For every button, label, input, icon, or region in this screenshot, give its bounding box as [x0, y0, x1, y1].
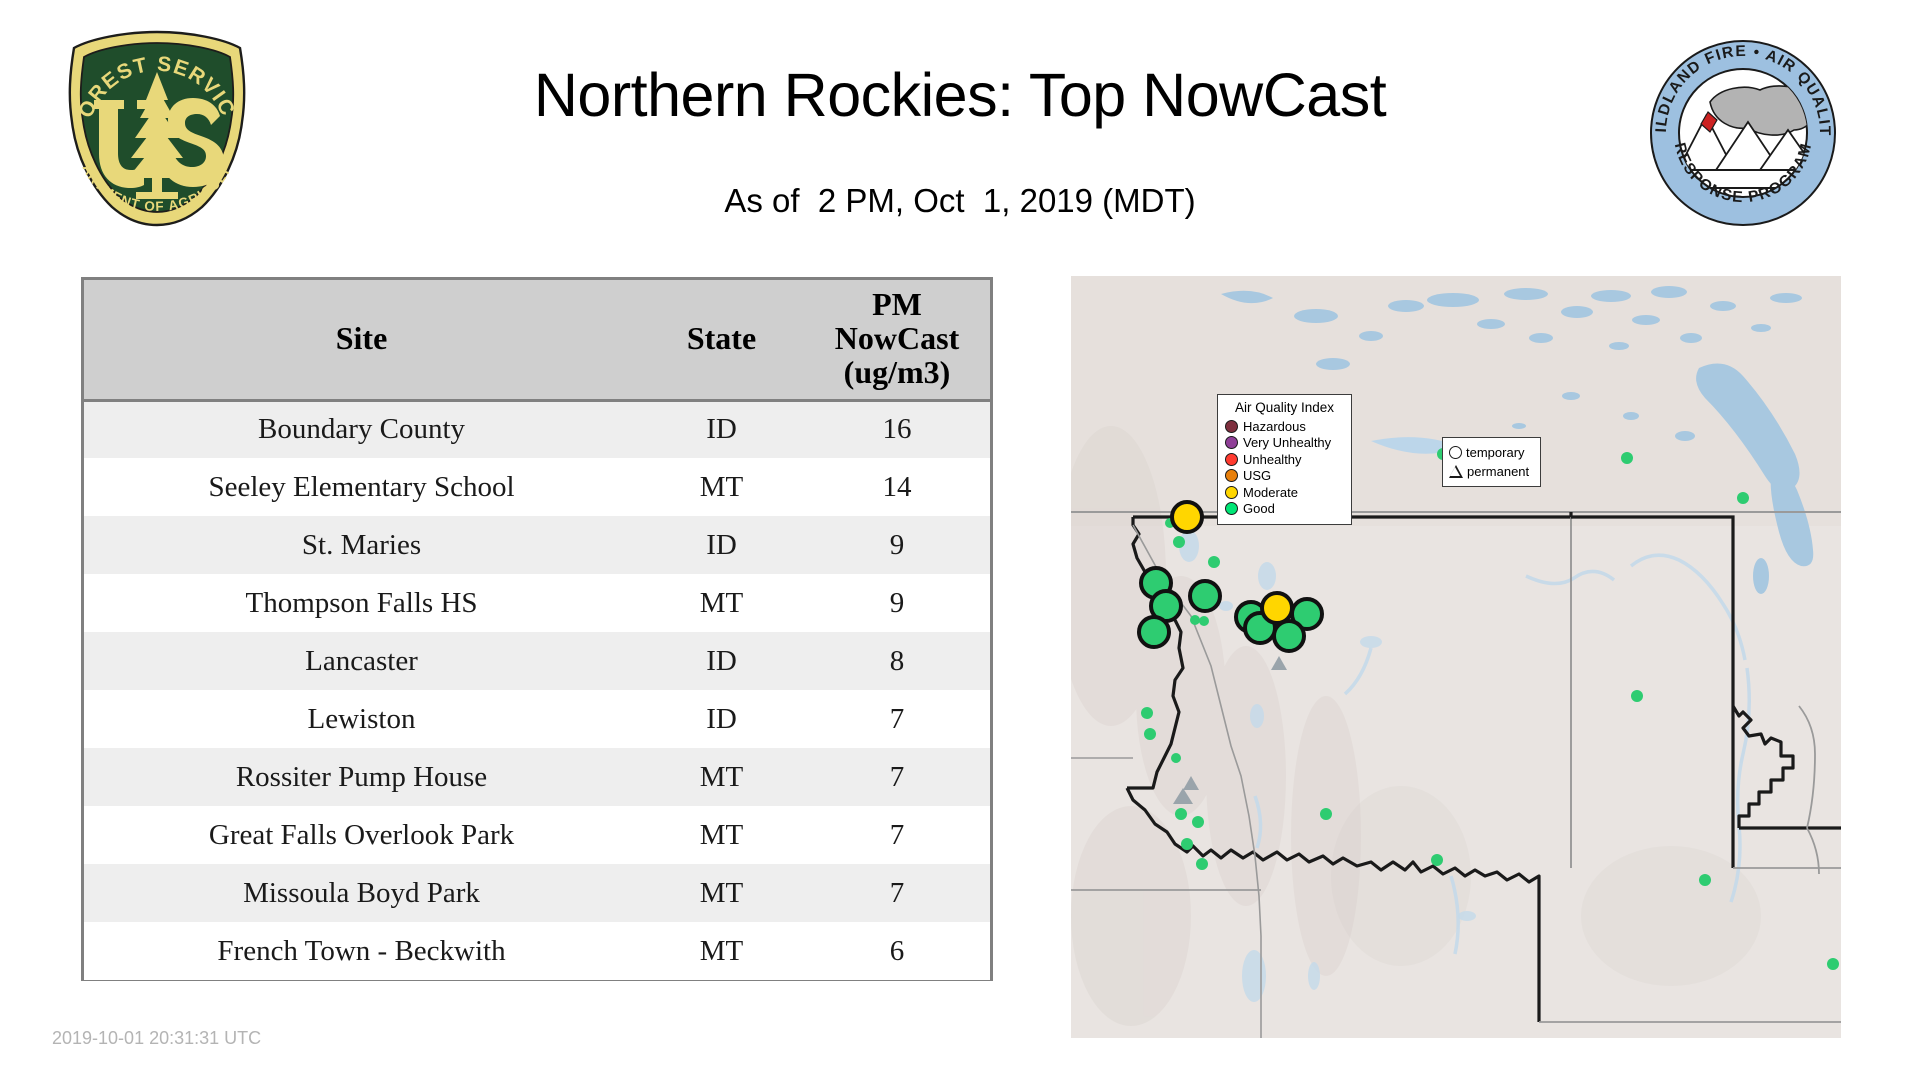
cell-state: MT	[639, 864, 804, 922]
table-row: French Town - Beckwith MT 6	[84, 922, 990, 980]
cell-site: Rossiter Pump House	[84, 748, 639, 806]
triangle-icon	[1449, 465, 1463, 478]
legend-item-hazardous: Hazardous	[1225, 418, 1344, 435]
table-header-row: Site State PM NowCast (ug/m3)	[84, 280, 990, 400]
cell-state: MT	[639, 458, 804, 516]
table-row: Missoula Boyd Park MT 7	[84, 864, 990, 922]
cell-site: Great Falls Overlook Park	[84, 806, 639, 864]
cell-state: ID	[639, 632, 804, 690]
map-legend-site-type: temporary permanent	[1442, 437, 1541, 487]
generated-timestamp: 2019-10-01 20:31:31 UTC	[52, 1028, 261, 1049]
legend-title: Air Quality Index	[1225, 400, 1344, 415]
cell-pm: 14	[804, 458, 990, 516]
cell-pm: 8	[804, 632, 990, 690]
cell-state: MT	[639, 748, 804, 806]
cell-site: Thompson Falls HS	[84, 574, 639, 632]
circle-icon	[1449, 446, 1462, 459]
cell-pm: 16	[804, 400, 990, 458]
legend-swatch-very-unhealthy	[1225, 436, 1238, 449]
page-subtitle: As of 2 PM, Oct 1, 2019 (MDT)	[300, 182, 1620, 220]
column-header-state: State	[639, 280, 804, 400]
table-row: Thompson Falls HS MT 9	[84, 574, 990, 632]
column-header-site: Site	[84, 280, 639, 400]
table-row: St. Maries ID 9	[84, 516, 990, 574]
cell-site: Lancaster	[84, 632, 639, 690]
legend-swatch-good	[1225, 502, 1238, 515]
page-title: Northern Rockies: Top NowCast	[300, 60, 1620, 130]
pm-line-1: PM	[804, 288, 990, 322]
top-nowcast-table: Site State PM NowCast (ug/m3) Boundary C…	[81, 277, 993, 981]
legend-swatch-moderate	[1225, 486, 1238, 499]
cell-site: French Town - Beckwith	[84, 922, 639, 980]
marker-good	[1190, 581, 1220, 611]
legend-item-temporary: temporary	[1449, 443, 1534, 462]
marker-good	[1274, 621, 1304, 651]
cell-state: ID	[639, 516, 804, 574]
pm-line-3: (ug/m3)	[804, 356, 990, 390]
cell-state: ID	[639, 400, 804, 458]
table-row: Lancaster ID 8	[84, 632, 990, 690]
legend-item-good: Good	[1225, 501, 1344, 518]
cell-pm: 9	[804, 516, 990, 574]
legend-swatch-usg	[1225, 469, 1238, 482]
cell-site: Missoula Boyd Park	[84, 864, 639, 922]
slide-root: FOREST SERVICE DEPARTMENT OF AGRICULTURE	[0, 0, 1920, 1080]
table-row: Rossiter Pump House MT 7	[84, 748, 990, 806]
cell-site: St. Maries	[84, 516, 639, 574]
cell-pm: 7	[804, 864, 990, 922]
cell-site: Seeley Elementary School	[84, 458, 639, 516]
cell-state: MT	[639, 806, 804, 864]
legend-swatch-unhealthy	[1225, 453, 1238, 466]
cell-pm: 9	[804, 574, 990, 632]
table-row: Lewiston ID 7	[84, 690, 990, 748]
marker-moderate	[1262, 593, 1292, 623]
cell-pm: 6	[804, 922, 990, 980]
cell-pm: 7	[804, 806, 990, 864]
pm-line-2: NowCast	[804, 322, 990, 356]
column-header-pm-nowcast: PM NowCast (ug/m3)	[804, 280, 990, 400]
table-row: Seeley Elementary School MT 14	[84, 458, 990, 516]
legend-item-usg: USG	[1225, 468, 1344, 485]
legend-item-unhealthy: Unhealthy	[1225, 451, 1344, 468]
cell-pm: 7	[804, 748, 990, 806]
cell-state: MT	[639, 574, 804, 632]
table-row: Boundary County ID 16	[84, 400, 990, 458]
marker-moderate	[1172, 502, 1202, 532]
legend-item-moderate: Moderate	[1225, 484, 1344, 501]
table-row: Great Falls Overlook Park MT 7	[84, 806, 990, 864]
cell-state: ID	[639, 690, 804, 748]
legend-item-permanent: permanent	[1449, 462, 1534, 481]
usda-forest-service-shield-logo: FOREST SERVICE DEPARTMENT OF AGRICULTURE	[52, 26, 262, 231]
map-legend-air-quality-index: Air Quality Index Hazardous Very Unhealt…	[1217, 394, 1352, 525]
legend-swatch-hazardous	[1225, 420, 1238, 433]
air-quality-monitor-map[interactable]: Air Quality Index Hazardous Very Unhealt…	[1071, 276, 1841, 1038]
cell-state: MT	[639, 922, 804, 980]
wildland-fire-air-quality-response-program-logo: WILDLAND FIRE • AIR QUALITY RESPONSE PRO…	[1648, 38, 1838, 228]
marker-good	[1139, 617, 1169, 647]
cell-site: Lewiston	[84, 690, 639, 748]
legend-item-very-unhealthy: Very Unhealthy	[1225, 435, 1344, 452]
cell-pm: 7	[804, 690, 990, 748]
cell-site: Boundary County	[84, 400, 639, 458]
